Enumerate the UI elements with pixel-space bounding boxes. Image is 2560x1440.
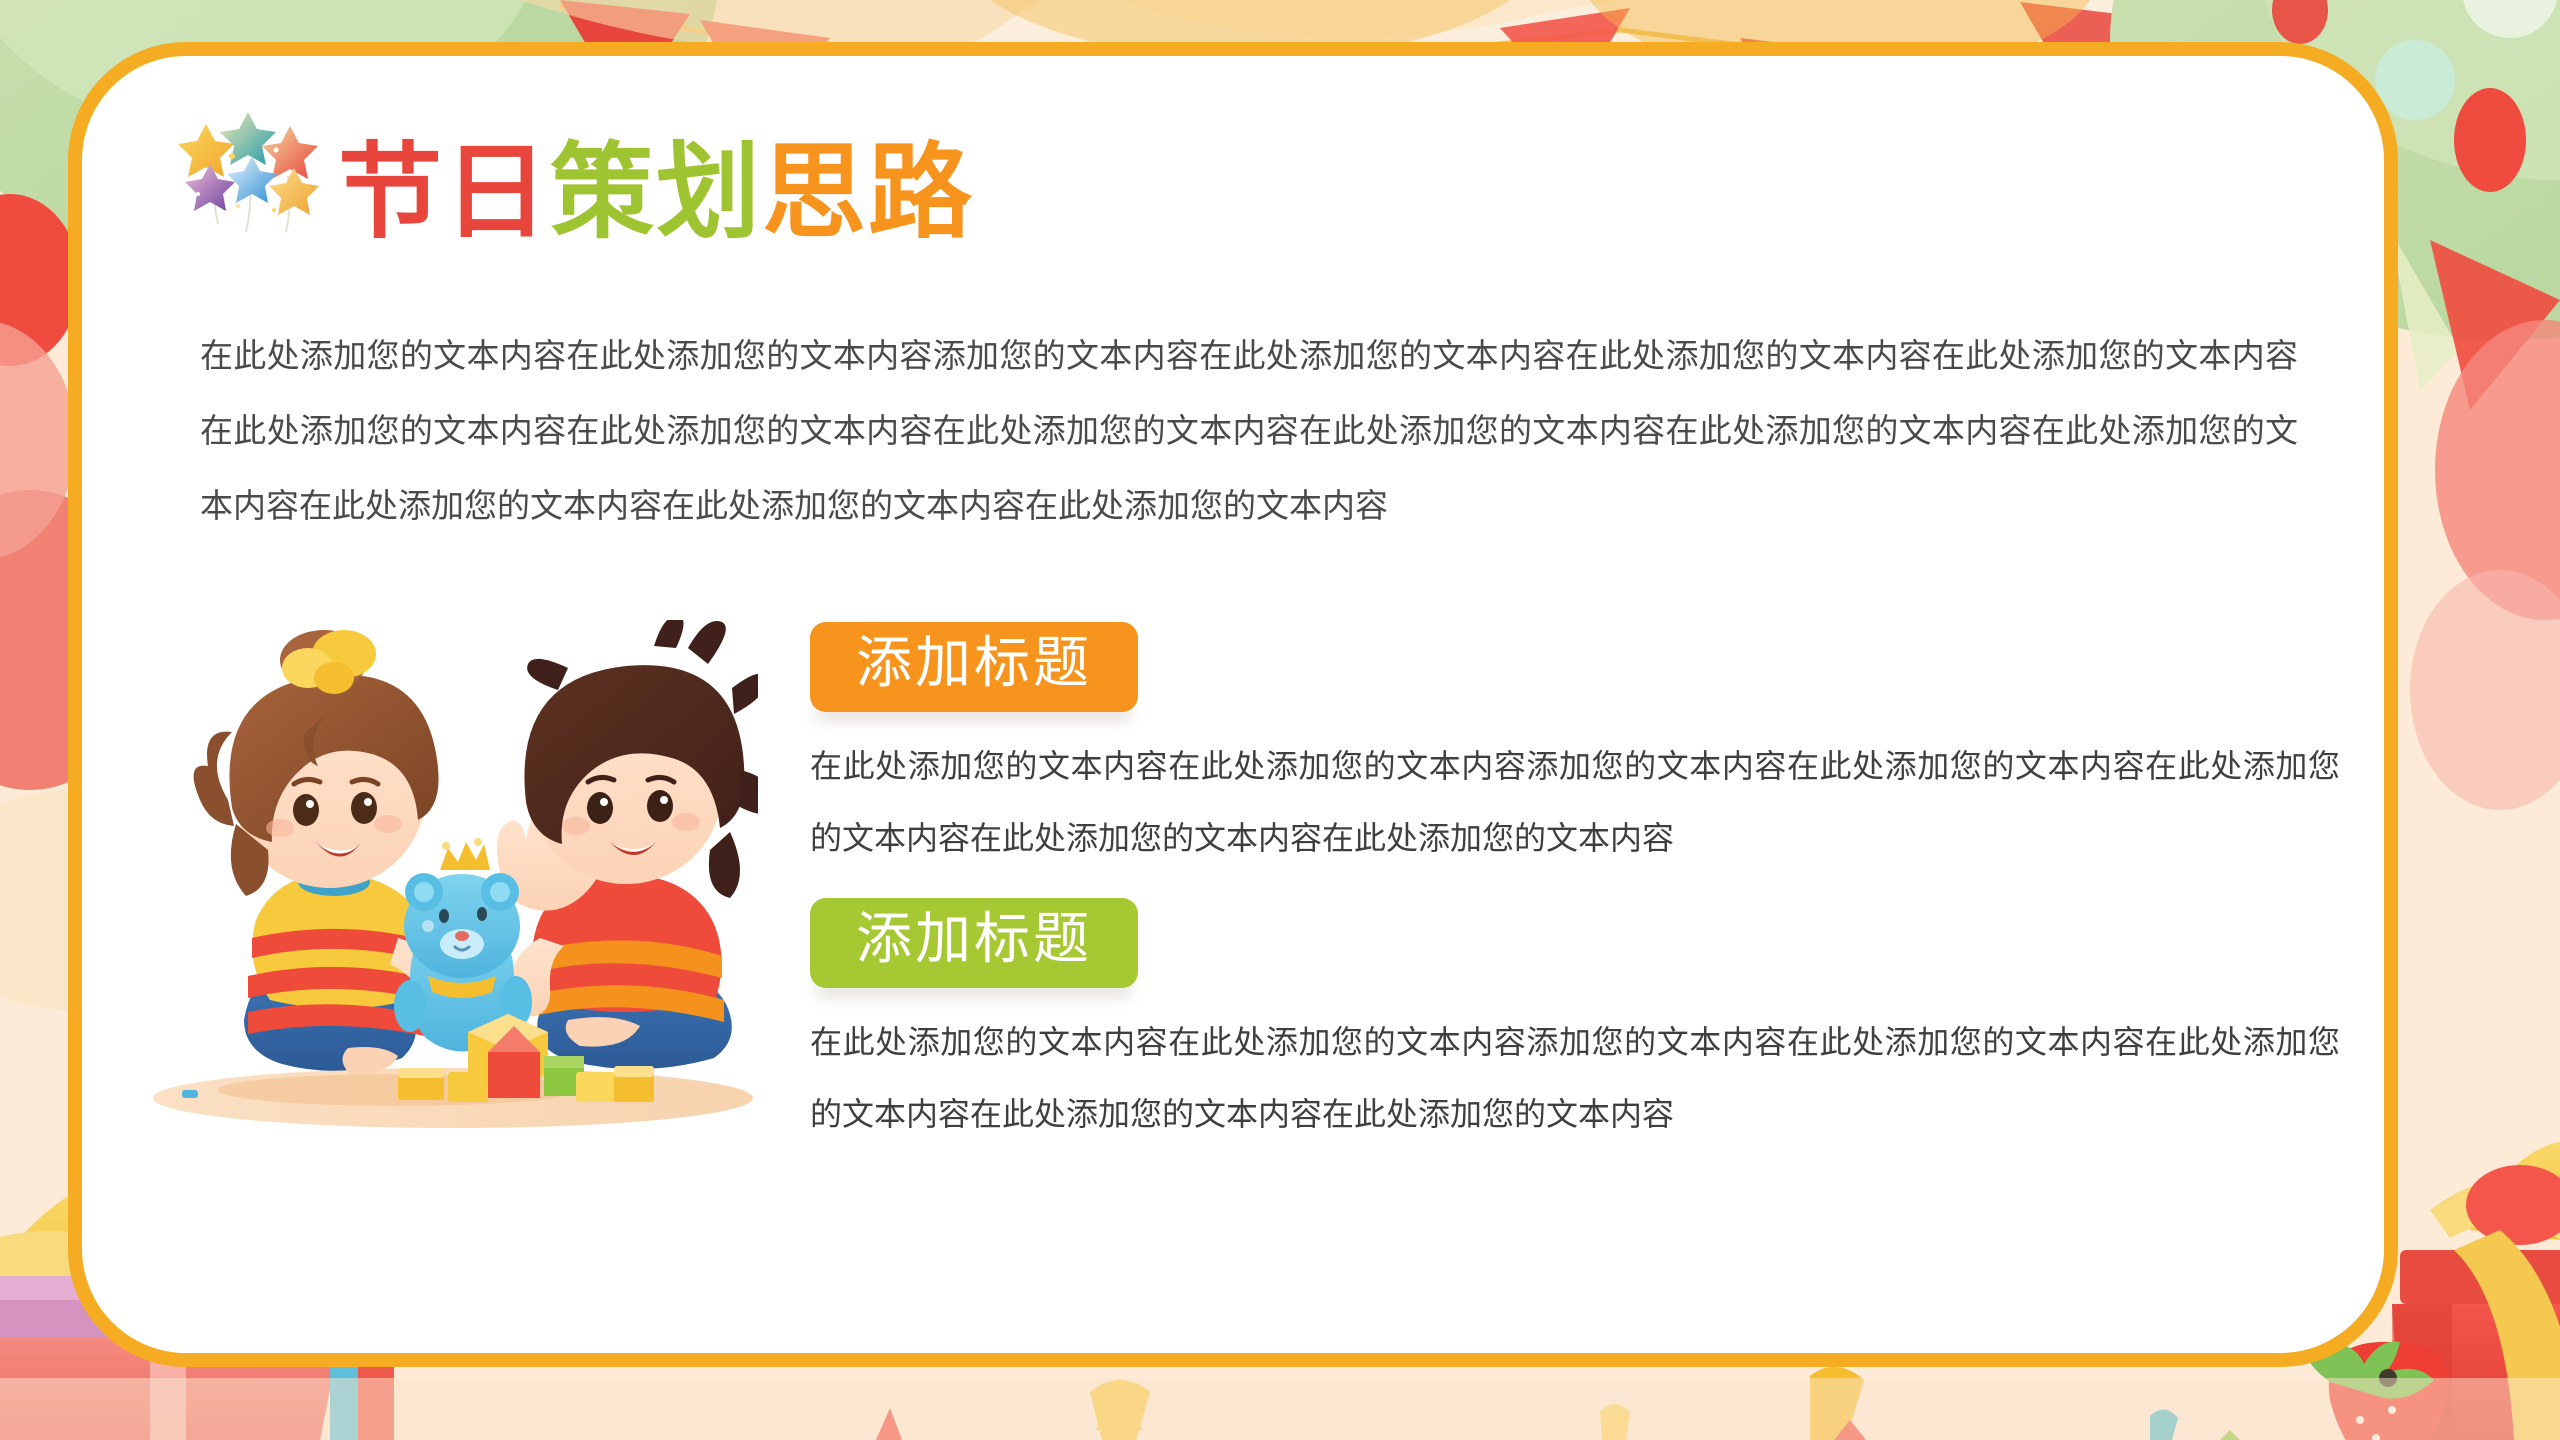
intro-paragraph: 在此处添加您的文本内容在此处添加您的文本内容添加您的文本内容在此处添加您的文本内… [200, 318, 2298, 544]
content-block-1-body: 在此处添加您的文本内容在此处添加您的文本内容添加您的文本内容在此处添加您的文本内… [810, 730, 2340, 874]
star-balloons-svg [178, 98, 330, 238]
two-children-illustration [148, 620, 758, 1132]
children-playing-svg [148, 620, 758, 1132]
star-balloons-icon [178, 98, 330, 238]
content-block-1: 添加标题 在此处添加您的文本内容在此处添加您的文本内容添加您的文本内容在此处添加… [810, 622, 2340, 874]
add-title-badge-orange[interactable]: 添加标题 [810, 622, 1138, 712]
slide-title-row: 节日策划思路 [178, 98, 974, 244]
title-segment-2: 策划 [550, 131, 762, 253]
content-block-2: 添加标题 在此处添加您的文本内容在此处添加您的文本内容添加您的文本内容在此处添加… [810, 898, 2340, 1150]
content-block-2-body: 在此处添加您的文本内容在此处添加您的文本内容添加您的文本内容在此处添加您的文本内… [810, 1006, 2340, 1150]
boy-figure [497, 620, 758, 1069]
title-segment-1: 节日 [338, 131, 550, 253]
title-segment-3: 思路 [762, 131, 974, 253]
add-title-badge-green[interactable]: 添加标题 [810, 898, 1138, 988]
page-title: 节日策划思路 [338, 140, 974, 244]
